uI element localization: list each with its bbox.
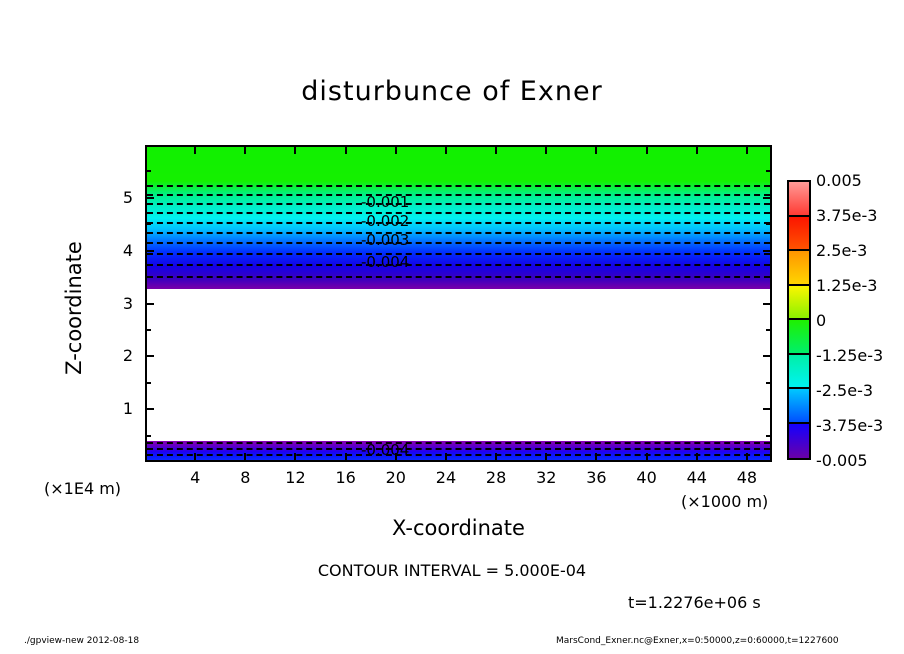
- colorbar-tick-label: 3.75e-3: [816, 206, 877, 225]
- x-axis-tick: [244, 453, 246, 461]
- x-axis-tick-label: 36: [576, 468, 616, 487]
- x-axis-tick: [646, 453, 648, 461]
- contour-line: [147, 222, 770, 224]
- x-axis-tick: [294, 146, 296, 154]
- contour-line: [147, 203, 770, 205]
- contour-line: [147, 454, 770, 456]
- x-axis-tick: [395, 146, 397, 154]
- y-axis-tick-label: 3: [103, 294, 133, 313]
- x-axis-tick: [345, 453, 347, 461]
- colorbar-band: [789, 286, 809, 321]
- x-axis-tick-label: 20: [376, 468, 416, 487]
- colorbar-tick-label: -3.75e-3: [816, 416, 883, 435]
- x-axis-tick: [445, 453, 447, 461]
- x-axis-units-label: (×1000 m): [681, 492, 768, 511]
- x-axis-tick-label: 28: [476, 468, 516, 487]
- contour-line: [147, 212, 770, 214]
- colorbar-band: [789, 251, 809, 286]
- y-axis-tick: [763, 197, 771, 199]
- x-axis-tick: [395, 453, 397, 461]
- x-axis-tick: [696, 146, 698, 154]
- colorbar-band: [789, 389, 809, 424]
- contour-line: [147, 242, 770, 244]
- x-axis-tick: [595, 453, 597, 461]
- colorbar-tick-label: 0: [816, 311, 826, 330]
- contour-label: -0.003: [359, 233, 411, 248]
- z-axis-units-label: (×1E4 m): [44, 479, 121, 498]
- contour-line: [147, 276, 770, 278]
- x-axis-tick: [646, 146, 648, 154]
- time-annotation: t=1.2276e+06 s: [628, 593, 761, 612]
- x-axis-title: X-coordinate: [145, 516, 772, 540]
- colorbar-tick-label: 1.25e-3: [816, 276, 877, 295]
- y-axis-tick: [763, 408, 771, 410]
- contour-line: [147, 448, 770, 450]
- x-axis-tick: [194, 146, 196, 154]
- y-axis-minor-tick: [766, 382, 771, 384]
- contour-label: -0.004: [359, 443, 411, 458]
- y-axis-tick: [146, 303, 154, 305]
- contour-line: [147, 442, 770, 444]
- y-axis-minor-tick: [146, 170, 151, 172]
- y-axis-minor-tick: [766, 170, 771, 172]
- y-axis-minor-tick: [766, 435, 771, 437]
- footer-command-label: ./gpview-new 2012-08-18: [24, 636, 139, 646]
- x-axis-tick-label: 12: [275, 468, 315, 487]
- x-axis-tick-label: 40: [627, 468, 667, 487]
- y-axis-tick: [763, 355, 771, 357]
- contour-line: [147, 253, 770, 255]
- y-axis-minor-tick: [766, 329, 771, 331]
- x-axis-tick: [445, 146, 447, 154]
- y-axis-tick-label: 4: [103, 241, 133, 260]
- x-axis-tick-label: 24: [426, 468, 466, 487]
- x-axis-tick: [294, 453, 296, 461]
- x-axis-tick: [696, 453, 698, 461]
- y-axis-tick: [146, 355, 154, 357]
- contour-line: [147, 232, 770, 234]
- colorbar-tick-label: 2.5e-3: [816, 241, 867, 260]
- x-axis-tick-label: 4: [175, 468, 215, 487]
- contour-line: [147, 264, 770, 266]
- page-title: disturbunce of Exner: [0, 76, 904, 107]
- x-axis-tick: [595, 146, 597, 154]
- contour-label: -0.004: [359, 255, 411, 270]
- y-axis-tick-label: 5: [103, 188, 133, 207]
- x-axis-tick: [495, 453, 497, 461]
- colorbar-band: [789, 320, 809, 355]
- x-axis-tick-label: 48: [727, 468, 767, 487]
- x-axis-tick-label: 44: [677, 468, 717, 487]
- colorbar-tick-label: -1.25e-3: [816, 346, 883, 365]
- y-axis-tick: [146, 197, 154, 199]
- x-axis-tick: [244, 146, 246, 154]
- colorbar-tick-label: 0.005: [816, 171, 862, 190]
- contour-line: [147, 185, 770, 187]
- y-axis-minor-tick: [146, 223, 151, 225]
- footer-dataset-label: MarsCond_Exner.nc@Exner,x=0:50000,z=0:60…: [556, 636, 839, 646]
- x-axis-tick: [345, 146, 347, 154]
- y-axis-tick: [146, 408, 154, 410]
- contour-fill-upper-layer: [147, 147, 770, 289]
- x-axis-tick: [545, 453, 547, 461]
- contour-label: -0.002: [359, 214, 411, 229]
- colorbar-band: [789, 182, 809, 217]
- x-axis-tick-label: 8: [225, 468, 265, 487]
- y-axis-minor-tick: [146, 329, 151, 331]
- contour-label: -0.001: [359, 195, 411, 210]
- colorbar-band: [789, 355, 809, 390]
- y-axis-tick: [763, 303, 771, 305]
- y-axis-minor-tick: [146, 276, 151, 278]
- y-axis-minor-tick: [146, 382, 151, 384]
- x-axis-tick: [194, 453, 196, 461]
- y-axis-minor-tick: [766, 223, 771, 225]
- y-axis-tick-label: 2: [103, 346, 133, 365]
- contour-line: [147, 194, 770, 196]
- y-axis-minor-tick: [146, 435, 151, 437]
- y-axis-tick: [763, 250, 771, 252]
- y-axis-tick-label: 1: [103, 399, 133, 418]
- x-axis-tick-label: 16: [326, 468, 366, 487]
- x-axis-tick: [746, 146, 748, 154]
- y-axis-tick: [146, 250, 154, 252]
- colorbar-band: [789, 424, 809, 459]
- x-axis-tick-label: 32: [526, 468, 566, 487]
- colorbar[interactable]: [787, 180, 811, 460]
- x-axis-tick: [545, 146, 547, 154]
- y-axis-minor-tick: [766, 276, 771, 278]
- y-axis-title: Z-coordinate: [62, 208, 86, 408]
- colorbar-tick-label: -2.5e-3: [816, 381, 873, 400]
- colorbar-band: [789, 217, 809, 252]
- contour-interval-annotation: CONTOUR INTERVAL = 5.000E-04: [0, 561, 904, 580]
- colorbar-tick-label: -0.005: [816, 451, 868, 470]
- x-axis-tick: [746, 453, 748, 461]
- plot-area[interactable]: -0.001 -0.002 -0.003 -0.004 -0.004: [145, 145, 772, 462]
- x-axis-tick: [495, 146, 497, 154]
